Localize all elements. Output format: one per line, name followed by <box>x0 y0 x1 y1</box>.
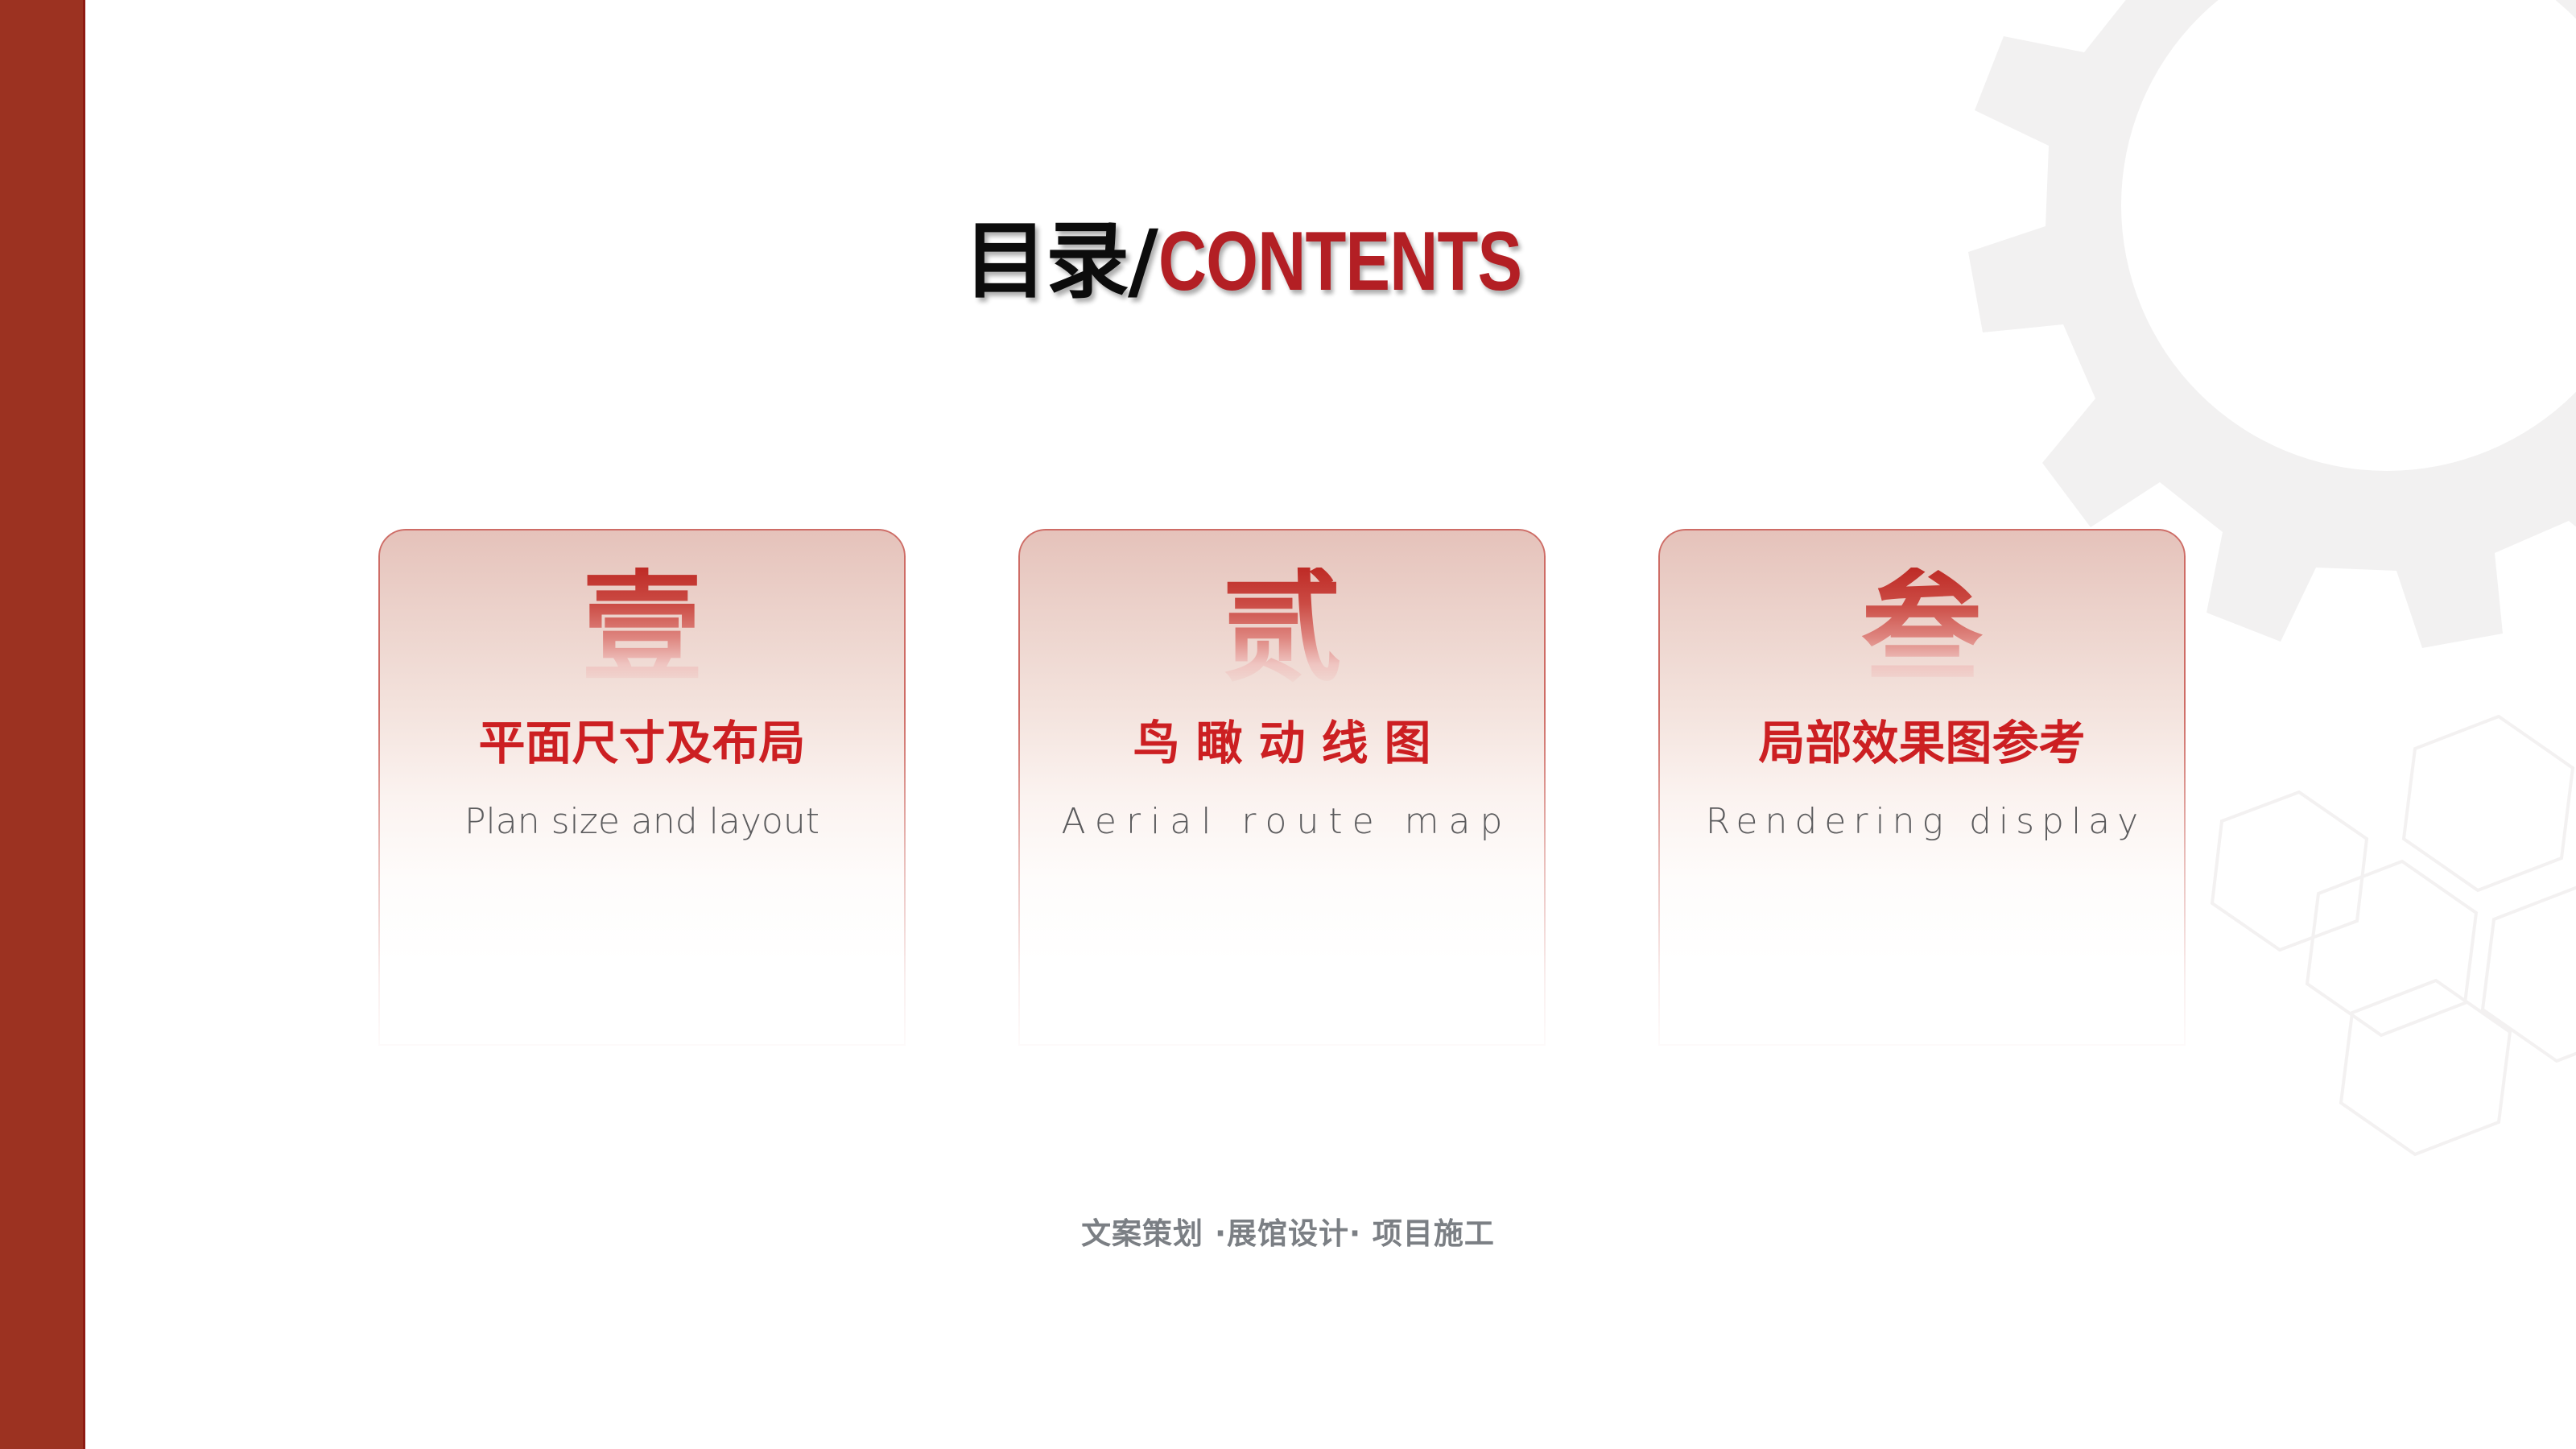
contents-card-2[interactable]: 贰 鸟瞰动线图 Aerial route map <box>1018 529 1546 1046</box>
footer-tagline: 文案策划 ·展馆设计· 项目施工 <box>0 1209 2576 1253</box>
contents-card-3[interactable]: 叁 局部效果图参考 Rendering display <box>1658 529 2186 1046</box>
contents-card-list: 壹 平面尺寸及布局 Plan size and layout 贰 鸟瞰动线图 A… <box>378 529 2186 1046</box>
card-subtitle-1: Plan size and layout <box>378 803 906 841</box>
contents-card-1[interactable]: 壹 平面尺寸及布局 Plan size and layout <box>378 529 906 1046</box>
card-subtitle-3: Rendering display <box>1658 803 2186 841</box>
page-title-en: CONTENTS <box>1158 220 1521 303</box>
hexagon-icon <box>2212 716 2576 1154</box>
card-title-1: 平面尺寸及布局 <box>378 719 906 768</box>
slide-canvas: 目录/CONTENTS 壹 平面尺寸及布局 Plan size and layo… <box>0 0 2576 1449</box>
card-numeral-er: 贰 <box>1018 568 1546 688</box>
card-numeral-san: 叁 <box>1658 568 2186 688</box>
page-title-cn: 目录/ <box>964 219 1157 303</box>
card-title-3: 局部效果图参考 <box>1658 719 2186 768</box>
page-title: 目录/CONTENTS <box>0 219 2576 303</box>
card-subtitle-2: Aerial route map <box>1018 803 1546 841</box>
card-numeral-yi: 壹 <box>378 568 906 688</box>
card-title-2: 鸟瞰动线图 <box>1018 719 1546 768</box>
